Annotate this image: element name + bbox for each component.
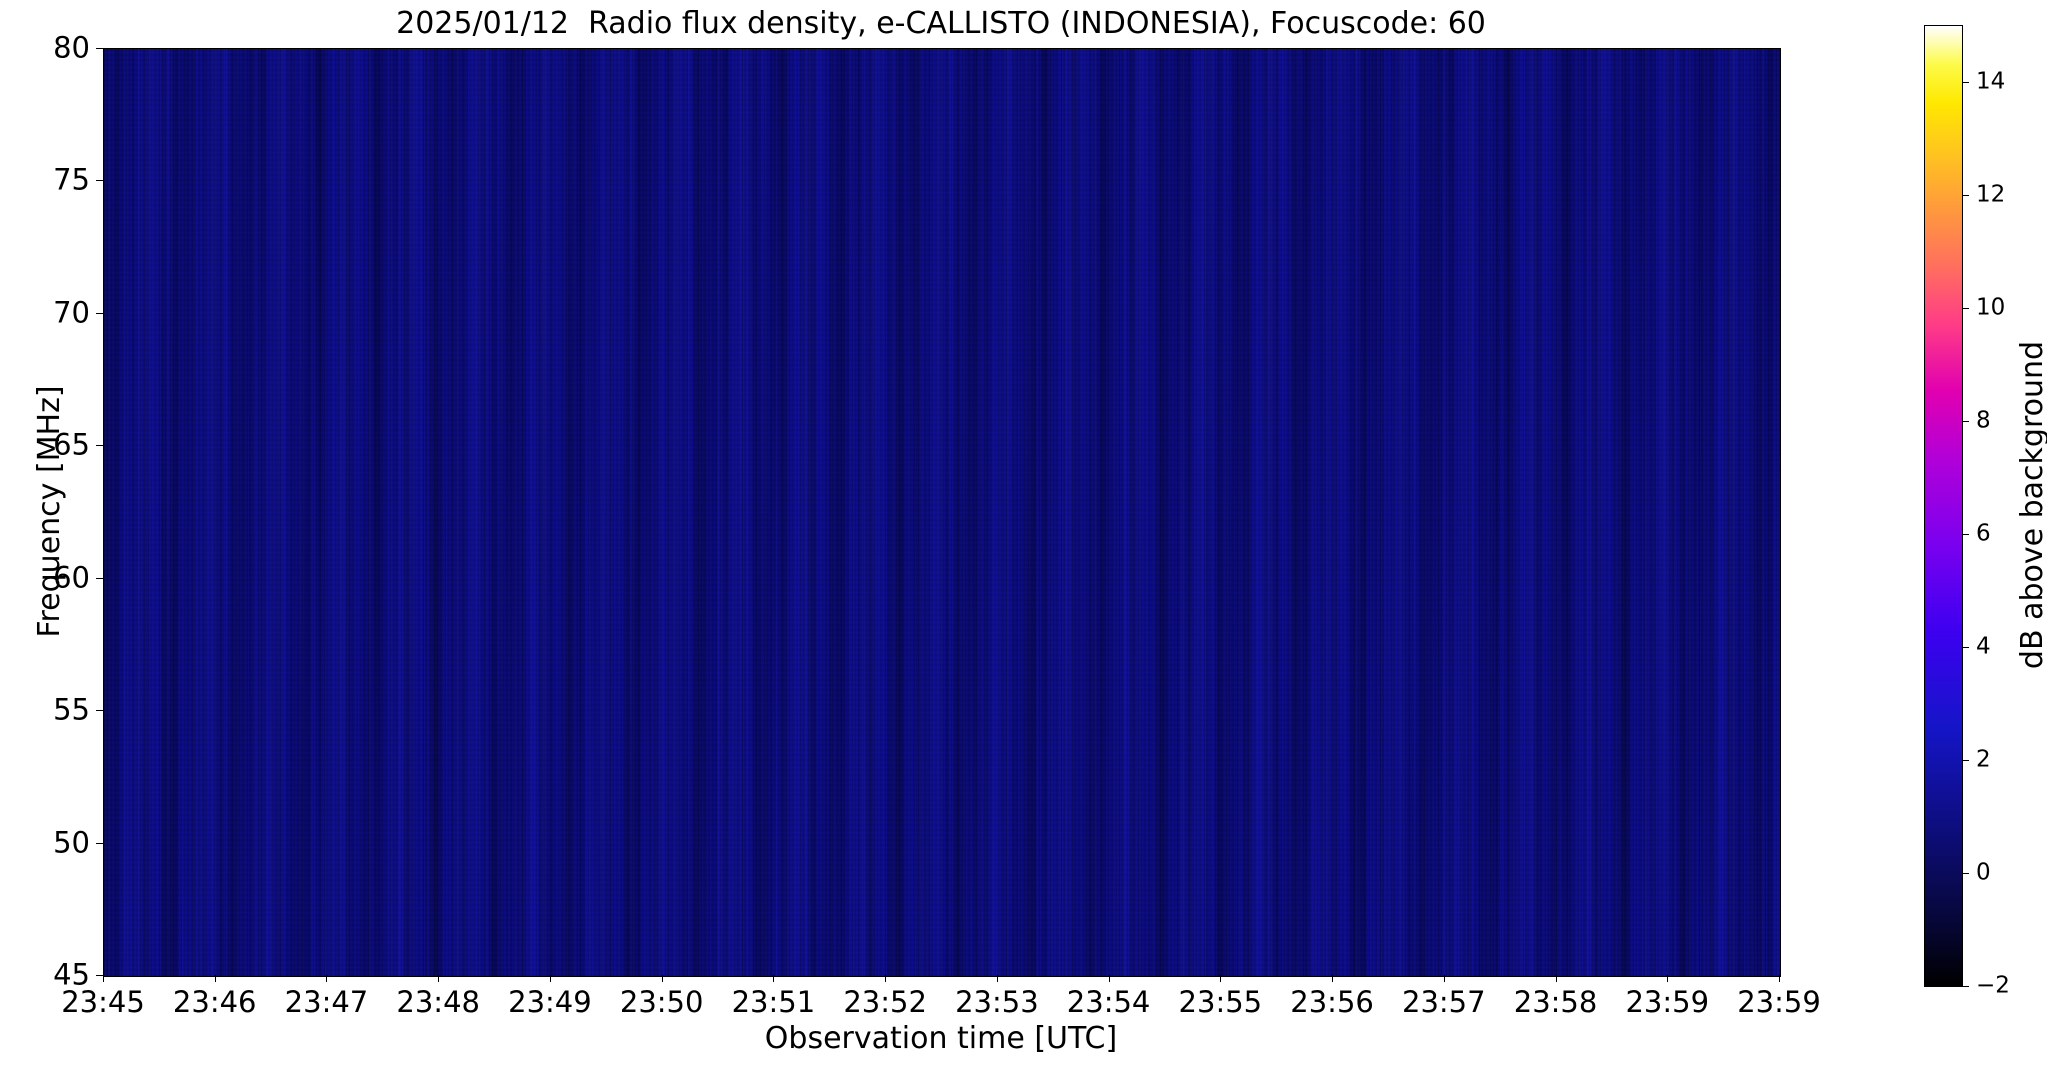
chart-title: 2025/01/12 Radio flux density, e-CALLIST… [103,6,1779,42]
colorbar-tick-label: 10 [1976,297,2005,320]
x-tick-label: 23:50 [620,986,704,1018]
colorbar-tick-label: 14 [1976,71,2005,94]
colorbar-tick-label: 8 [1976,410,1991,433]
colorbar-tick-label: 6 [1976,523,1991,546]
y-axis-label: Frequency [MHz] [30,48,70,975]
colorbar-tick-mark [1962,647,1969,648]
colorbar-tick-mark [1962,760,1969,761]
colorbar-tick-mark [1962,82,1969,83]
x-tick-mark [1109,975,1110,982]
x-axis-ticks: 23:4523:4623:4723:4823:4923:5023:5123:52… [103,48,1779,975]
colorbar-label: dB above background [2016,25,2047,985]
x-tick-label: 23:59 [1625,986,1709,1018]
x-tick-label: 23:47 [285,986,369,1018]
x-tick-label: 23:49 [508,986,592,1018]
x-tick-mark [1332,975,1333,982]
x-tick-label: 23:45 [61,986,145,1018]
colorbar-tick-label: 4 [1976,636,1991,659]
y-tick-mark [96,445,103,446]
colorbar-tick-label: 12 [1976,184,2005,207]
colorbar-tick-mark [1962,308,1969,309]
x-tick-label: 23:46 [173,986,257,1018]
x-tick-mark [1779,975,1780,982]
colorbar-tick-mark [1962,986,1969,987]
x-tick-mark [773,975,774,982]
x-tick-label: 23:48 [396,986,480,1018]
x-tick-mark [438,975,439,982]
x-axis-label: Observation time [UTC] [103,1022,1779,1056]
x-tick-label: 23:51 [732,986,816,1018]
x-tick-mark [1556,975,1557,982]
x-tick-label: 23:54 [1067,986,1151,1018]
y-tick-mark [96,48,103,49]
x-tick-mark [885,975,886,982]
colorbar-tick-mark [1962,873,1969,874]
x-tick-mark [550,975,551,982]
x-tick-label: 23:57 [1402,986,1486,1018]
x-tick-mark [997,975,998,982]
x-tick-label: 23:58 [1514,986,1598,1018]
x-tick-label: 23:53 [955,986,1039,1018]
x-tick-mark [326,975,327,982]
x-tick-mark [1220,975,1221,982]
y-tick-mark [96,578,103,579]
x-tick-label: 23:52 [843,986,927,1018]
y-tick-mark [96,710,103,711]
y-tick-mark [96,843,103,844]
figure-canvas: 2025/01/12 Radio flux density, e-CALLIST… [0,0,2047,1067]
colorbar-tick-label: 2 [1976,749,1991,772]
x-tick-label: 23:59 [1737,986,1821,1018]
x-tick-label: 23:56 [1290,986,1374,1018]
colorbar-tick-mark [1962,195,1969,196]
colorbar-tick-label: −2 [1976,975,2010,998]
x-tick-mark [215,975,216,982]
colorbar-tick-label: 0 [1976,862,1991,885]
x-tick-mark [1444,975,1445,982]
colorbar[interactable]: 14121086420−2 [1924,25,1963,987]
x-tick-mark [103,975,104,982]
colorbar-tick-mark [1962,534,1969,535]
y-tick-mark [96,180,103,181]
y-tick-mark [96,313,103,314]
x-tick-label: 23:55 [1179,986,1263,1018]
x-tick-mark [1667,975,1668,982]
colorbar-tick-mark [1962,421,1969,422]
x-tick-mark [662,975,663,982]
y-tick-mark [96,975,103,976]
